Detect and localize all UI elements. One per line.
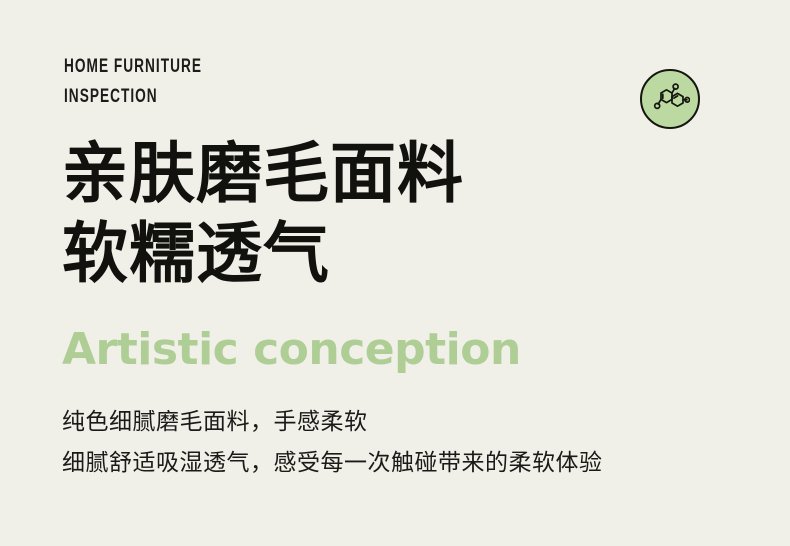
headline-line-1: 亲肤磨毛面料 <box>62 134 762 214</box>
molecule-badge <box>640 69 700 129</box>
description-block: 纯色细腻磨毛面料，手感柔软 细腻舒适吸湿透气，感受每一次触碰带来的柔软体验 <box>62 402 762 484</box>
description-line-1: 纯色细腻磨毛面料，手感柔软 <box>62 402 762 443</box>
kicker-line-2: INSPECTION <box>64 82 366 112</box>
molecule-icon <box>650 79 690 119</box>
kicker-line-1: HOME FURNITURE <box>64 52 366 82</box>
headline-line-2: 软糯透气 <box>62 214 762 294</box>
description-line-2: 细腻舒适吸湿透气，感受每一次触碰带来的柔软体验 <box>62 443 762 484</box>
page-title: 亲肤磨毛面料 软糯透气 <box>62 134 762 294</box>
promo-banner: HOME FURNITURE INSPECTION <box>0 0 790 546</box>
kicker-block: HOME FURNITURE INSPECTION <box>64 52 484 112</box>
subheading: Artistic conception <box>62 324 521 376</box>
